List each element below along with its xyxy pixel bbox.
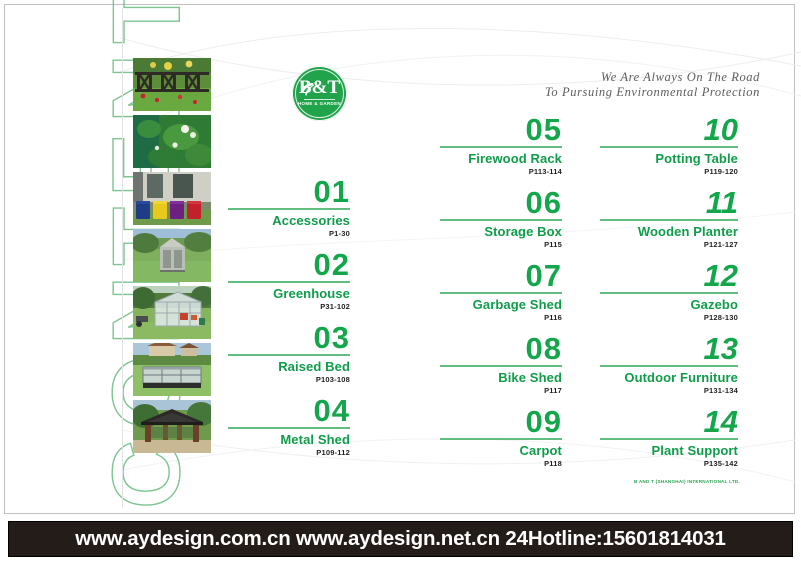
toc-entry-number: 02 [228,249,350,280]
toc-entry-rule [440,365,562,367]
toc-entry-number: 05 [440,114,562,145]
toc-entry-03[interactable]: 03Raised BedP103-108 [228,322,350,385]
toc-entry-rule [228,354,350,356]
toc-entry-08[interactable]: 08Bike ShedP117 [440,333,562,396]
catalog-contents-page: CONTENTS [0,0,801,563]
toc-entry-pages: P115 [440,239,562,250]
footer-contact-text: www.aydesign.com.cn www.aydesign.net.cn … [75,527,726,551]
toc-entry-title: Storage Box [440,224,562,239]
toc-entry-pages: P31-102 [228,301,350,312]
toc-entry-number: 06 [440,187,562,218]
toc-entry-number: 04 [228,395,350,426]
toc-entry-rule [600,292,738,294]
toc-entry-rule [440,292,562,294]
toc-entry-number: 10 [600,114,738,145]
footer-bar: www.aydesign.com.cn www.aydesign.net.cn … [8,521,793,557]
toc-entry-title: Accessories [228,213,350,228]
toc-entry-rule [440,146,562,148]
brand-logo: B&T HOME & GARDEN [292,66,347,121]
toc-entry-04[interactable]: 04Metal ShedP109-112 [228,395,350,458]
toc-entry-number: 08 [440,333,562,364]
toc-entry-rule [228,208,350,210]
photo-green-foliage-plants [133,115,211,168]
toc-entry-pages: P121-127 [600,239,738,250]
toc-entry-02[interactable]: 02GreenhouseP31-102 [228,249,350,312]
tagline-line-1: We Are Always On The Road [470,70,760,85]
toc-entry-09[interactable]: 09CarpotP118 [440,406,562,469]
toc-entry-number: 13 [600,333,738,364]
toc-entry-title: Raised Bed [228,359,350,374]
toc-entry-05[interactable]: 05Firewood RackP113-114 [440,114,562,177]
toc-entry-pages: P116 [440,312,562,323]
toc-entry-title: Wooden Planter [600,224,738,239]
toc-entry-07[interactable]: 07Garbage ShedP116 [440,260,562,323]
toc-entry-number: 07 [440,260,562,291]
photo-wooden-gazebo [133,400,211,453]
toc-entry-pages: P117 [440,385,562,396]
photo-garden-fence-flowers [133,58,211,111]
toc-entry-number: 09 [440,406,562,437]
toc-entry-number: 12 [600,260,738,291]
toc-column-1: 01AccessoriesP1-3002GreenhouseP31-10203R… [228,176,350,468]
toc-entry-title: Outdoor Furniture [600,370,738,385]
toc-column-2: 05Firewood RackP113-11406Storage BoxP115… [440,114,562,479]
toc-entry-14[interactable]: 14Plant SupportP135-142 [600,406,738,469]
photo-portable-greenhouse-tent [133,229,211,282]
toc-entry-number: 01 [228,176,350,207]
toc-entry-number: 11 [600,187,738,218]
photo-strip [133,58,211,457]
toc-entry-title: Plant Support [600,443,738,458]
toc-entry-pages: P128-130 [600,312,738,323]
toc-entry-rule [600,365,738,367]
toc-entry-title: Bike Shed [440,370,562,385]
tagline: We Are Always On The Road To Pursuing En… [470,70,760,100]
toc-entry-title: Metal Shed [228,432,350,447]
toc-entry-rule [440,438,562,440]
toc-entry-rule [600,219,738,221]
toc-entry-rule [600,438,738,440]
logo-initials: B&T [292,78,347,98]
toc-entry-pages: P135-142 [600,458,738,469]
logo-divider-rule [304,99,335,100]
toc-entry-rule [440,219,562,221]
toc-entry-pages: P113-114 [440,166,562,177]
toc-entry-title: Greenhouse [228,286,350,301]
toc-entry-title: Firewood Rack [440,151,562,166]
toc-entry-title: Potting Table [600,151,738,166]
toc-entry-10[interactable]: 10Potting TableP119-120 [600,114,738,177]
toc-entry-number: 14 [600,406,738,437]
photo-colored-storage-drums [133,172,211,225]
toc-entry-rule [228,427,350,429]
toc-entry-pages: P109-112 [228,447,350,458]
toc-entry-number: 03 [228,322,350,353]
logo-disc: B&T HOME & GARDEN [292,66,347,121]
toc-entry-pages: P131-134 [600,385,738,396]
vertical-divider-rule [122,8,123,508]
company-credit-line: B AND T (SHANGHAI) INTERNATIONAL LTD. [560,479,740,484]
tagline-line-2: To Pursuing Environmental Protection [470,85,760,100]
toc-entry-title: Gazebo [600,297,738,312]
toc-entry-pages: P103-108 [228,374,350,385]
toc-entry-06[interactable]: 06Storage BoxP115 [440,187,562,250]
toc-entry-11[interactable]: 11Wooden PlanterP121-127 [600,187,738,250]
toc-entry-pages: P119-120 [600,166,738,177]
toc-entry-title: Garbage Shed [440,297,562,312]
toc-entry-pages: P118 [440,458,562,469]
toc-entry-pages: P1-30 [228,228,350,239]
toc-entry-13[interactable]: 13Outdoor FurnitureP131-134 [600,333,738,396]
photo-cold-frame-raised-bed [133,343,211,396]
toc-entry-rule [228,281,350,283]
photo-glass-greenhouse [133,286,211,339]
toc-entry-12[interactable]: 12GazeboP128-130 [600,260,738,323]
toc-entry-01[interactable]: 01AccessoriesP1-30 [228,176,350,239]
toc-column-3: 10Potting TableP119-12011Wooden PlanterP… [600,114,738,479]
toc-entry-title: Carpot [440,443,562,458]
logo-subtitle: HOME & GARDEN [292,101,347,106]
toc-entry-rule [600,146,738,148]
